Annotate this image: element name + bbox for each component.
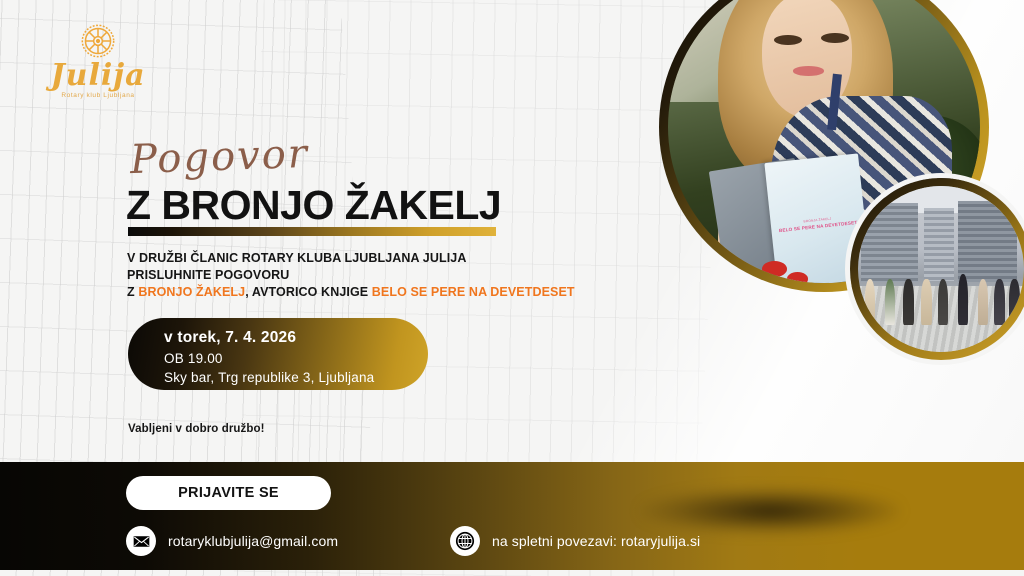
photo2-figure — [994, 279, 1005, 325]
club-subtitle: Rotary klub Ljubljana — [40, 92, 156, 99]
contact-website[interactable]: na spletni povezavi: rotaryjulija.si — [450, 526, 700, 556]
website-text: na spletni povezavi: rotaryjulija.si — [492, 533, 700, 549]
photo2-figure — [978, 279, 989, 325]
author-hand-upper — [762, 261, 787, 277]
event-description: V DRUŽBI ČLANIC ROTARY KLUBA LJUBLJANA J… — [127, 250, 647, 301]
script-headline: Pogovor — [129, 131, 309, 183]
desc-mid: , AVTORICO KNJIGE — [245, 285, 372, 299]
email-text: rotaryklubjulija@gmail.com — [168, 533, 338, 549]
globe-icon — [450, 526, 480, 556]
description-line-2: PRISLUHNITE POGOVORU — [127, 267, 647, 284]
photo2-figure — [885, 279, 896, 325]
event-venue: Sky bar, Trg republike 3, Ljubljana — [164, 370, 428, 385]
contact-email[interactable]: rotaryklubjulija@gmail.com — [126, 526, 338, 556]
description-line-3: Z BRONJO ŽAKELJ, AVTORICO KNJIGE BELO SE… — [127, 284, 647, 301]
book-cover-title: BELO SE PERE NA DEVETDESET — [779, 220, 858, 234]
desc-guest-name: BRONJO ŽAKELJ — [138, 285, 245, 299]
photo2-figure — [903, 279, 914, 325]
photo2-figure — [1009, 279, 1020, 325]
signup-button[interactable]: PRIJAVITE SE — [126, 476, 331, 510]
poster-canvas: Julija Rotary klub Ljubljana Pogovor Z B… — [0, 0, 1024, 576]
author-eye-left — [774, 35, 802, 45]
event-details-card: v torek, 7. 4. 2026 OB 19.00 Sky bar, Tr… — [128, 318, 428, 390]
welcome-note: Vabljeni v dobro družbo! — [128, 423, 265, 435]
photo2-building-center — [924, 208, 954, 281]
club-script-name: Julija — [40, 62, 156, 90]
photo2-figure — [921, 279, 932, 325]
photo2-building-left — [861, 203, 917, 283]
footer-bar: PRIJAVITE SE rotaryklubjulija@gmail.com — [0, 462, 1024, 570]
desc-pre: Z — [127, 285, 138, 299]
photo2-figure — [865, 279, 876, 325]
author-hand-lower — [787, 272, 809, 283]
author-lips — [793, 66, 824, 75]
photo2-figure — [958, 274, 969, 325]
event-date: v torek, 7. 4. 2026 — [164, 329, 428, 347]
photo2-building-right — [958, 201, 1018, 282]
desc-book-title: BELO SE PERE NA DEVETDESET — [372, 285, 575, 299]
title-underline-rule — [128, 227, 496, 236]
members-photo-frame — [850, 178, 1024, 360]
envelope-icon — [126, 526, 156, 556]
rotary-wheel-icon — [79, 22, 117, 60]
members-photo — [858, 186, 1024, 352]
description-line-1: V DRUŽBI ČLANIC ROTARY KLUBA LJUBLJANA J… — [127, 250, 647, 267]
event-time: OB 19.00 — [164, 351, 428, 366]
club-logo: Julija Rotary klub Ljubljana — [40, 22, 156, 122]
photo2-figure — [938, 279, 949, 325]
page-title: Z BRONJO ŽAKELJ — [126, 182, 501, 229]
